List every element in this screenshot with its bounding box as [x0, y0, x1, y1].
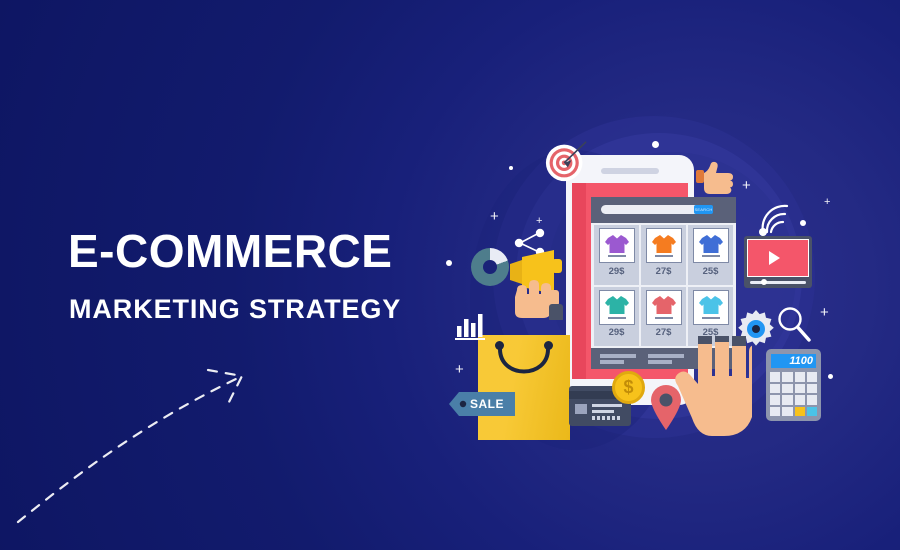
- product-cell[interactable]: 25$: [688, 225, 733, 285]
- card-divider: [608, 317, 626, 319]
- calculator-key[interactable]: [782, 384, 792, 394]
- t-shirt-icon: [698, 234, 724, 254]
- page-subtitle: MARKETING STRATEGY: [69, 296, 401, 323]
- sparkle-dot: [652, 141, 659, 148]
- sale-tag-label: SALE: [470, 397, 504, 411]
- calculator-keypad[interactable]: [770, 372, 817, 416]
- card-divider: [702, 317, 720, 319]
- sparkle-plus: +: [455, 362, 464, 377]
- t-shirt-icon: [651, 234, 677, 254]
- product-price: 25$: [703, 266, 719, 277]
- donut-chart-hole: [483, 260, 497, 274]
- search-input[interactable]: [601, 205, 705, 214]
- t-shirt-icon: [604, 234, 630, 254]
- product-cell[interactable]: 27$: [641, 225, 686, 285]
- calculator-key[interactable]: [807, 395, 817, 405]
- video-progress-bar[interactable]: [750, 281, 806, 284]
- calculator-key[interactable]: [795, 372, 805, 382]
- calculator-key[interactable]: [782, 395, 792, 405]
- calculator-key[interactable]: [782, 407, 792, 417]
- search-button[interactable]: SEARCH: [694, 205, 713, 214]
- credit-card-line: [592, 410, 614, 413]
- magnifier-icon: [776, 306, 812, 344]
- poster-canvas: E-COMMERCE MARKETING STRATEGY + + + + + …: [0, 0, 900, 550]
- shopping-bag-handle: [495, 345, 553, 393]
- bag-handle-knob: [544, 341, 553, 350]
- calculator-key-accent[interactable]: [795, 407, 805, 417]
- phone-speaker: [601, 168, 659, 174]
- hand-holding-megaphone: [513, 272, 563, 320]
- calculator-key[interactable]: [807, 384, 817, 394]
- play-button-icon[interactable]: [769, 251, 780, 265]
- phone-screen-edge: [572, 183, 586, 379]
- credit-card-line: [592, 404, 622, 407]
- calculator-key[interactable]: [770, 372, 780, 382]
- product-price: 27$: [656, 327, 672, 338]
- calculator-key[interactable]: [770, 407, 780, 417]
- pointing-hand-icon: [672, 336, 752, 436]
- calculator-key[interactable]: [795, 395, 805, 405]
- product-cell[interactable]: 29$: [594, 287, 639, 347]
- dashed-curved-arrow-icon: [0, 330, 280, 530]
- calculator-key[interactable]: [795, 384, 805, 394]
- card-divider: [655, 255, 673, 257]
- card-divider: [702, 255, 720, 257]
- sparkle-plus: +: [490, 209, 499, 224]
- product-card: [693, 228, 729, 263]
- footer-line: [600, 354, 636, 358]
- sparkle-dot: [800, 220, 806, 226]
- wifi-icon: [755, 202, 793, 236]
- bar-chart-icon: [455, 310, 485, 340]
- product-card: [599, 228, 635, 263]
- bag-handle-knob: [495, 341, 504, 350]
- footer-line: [648, 360, 672, 364]
- calculator-key[interactable]: [770, 384, 780, 394]
- t-shirt-icon: [698, 295, 724, 315]
- t-shirt-icon: [651, 295, 677, 315]
- sparkle-plus: +: [820, 305, 829, 320]
- coin-icon: $: [612, 371, 645, 404]
- card-divider: [655, 317, 673, 319]
- video-progress-knob[interactable]: [761, 279, 767, 285]
- thumbs-up-icon: [696, 161, 734, 195]
- calculator-key-accent[interactable]: [807, 407, 817, 417]
- product-grid: 29$ 27$ 25$: [594, 225, 733, 346]
- product-card: [693, 290, 729, 325]
- target-icon: [545, 140, 587, 182]
- sparkle-plus: +: [824, 197, 830, 208]
- product-price: 27$: [656, 266, 672, 277]
- page-title: E-COMMERCE: [68, 228, 401, 274]
- product-card: [646, 228, 682, 263]
- sparkle-dot: [828, 374, 833, 379]
- sparkle-dot: [509, 166, 513, 170]
- product-cell[interactable]: 29$: [594, 225, 639, 285]
- product-card: [599, 290, 635, 325]
- product-card: [646, 290, 682, 325]
- sparkle-dot: [446, 260, 452, 266]
- sparkle-plus: +: [742, 178, 751, 193]
- credit-card-number-dots: [592, 416, 626, 420]
- credit-card-chip: [575, 404, 587, 414]
- card-divider: [608, 255, 626, 257]
- product-price: 29$: [609, 266, 625, 277]
- calculator-key[interactable]: [782, 372, 792, 382]
- calculator-key[interactable]: [807, 372, 817, 382]
- calculator-display: 1100: [771, 354, 816, 368]
- footer-line: [600, 360, 624, 364]
- t-shirt-icon: [604, 295, 630, 315]
- product-price: 29$: [609, 327, 625, 338]
- headline-block: E-COMMERCE MARKETING STRATEGY: [68, 228, 401, 323]
- calculator-key[interactable]: [770, 395, 780, 405]
